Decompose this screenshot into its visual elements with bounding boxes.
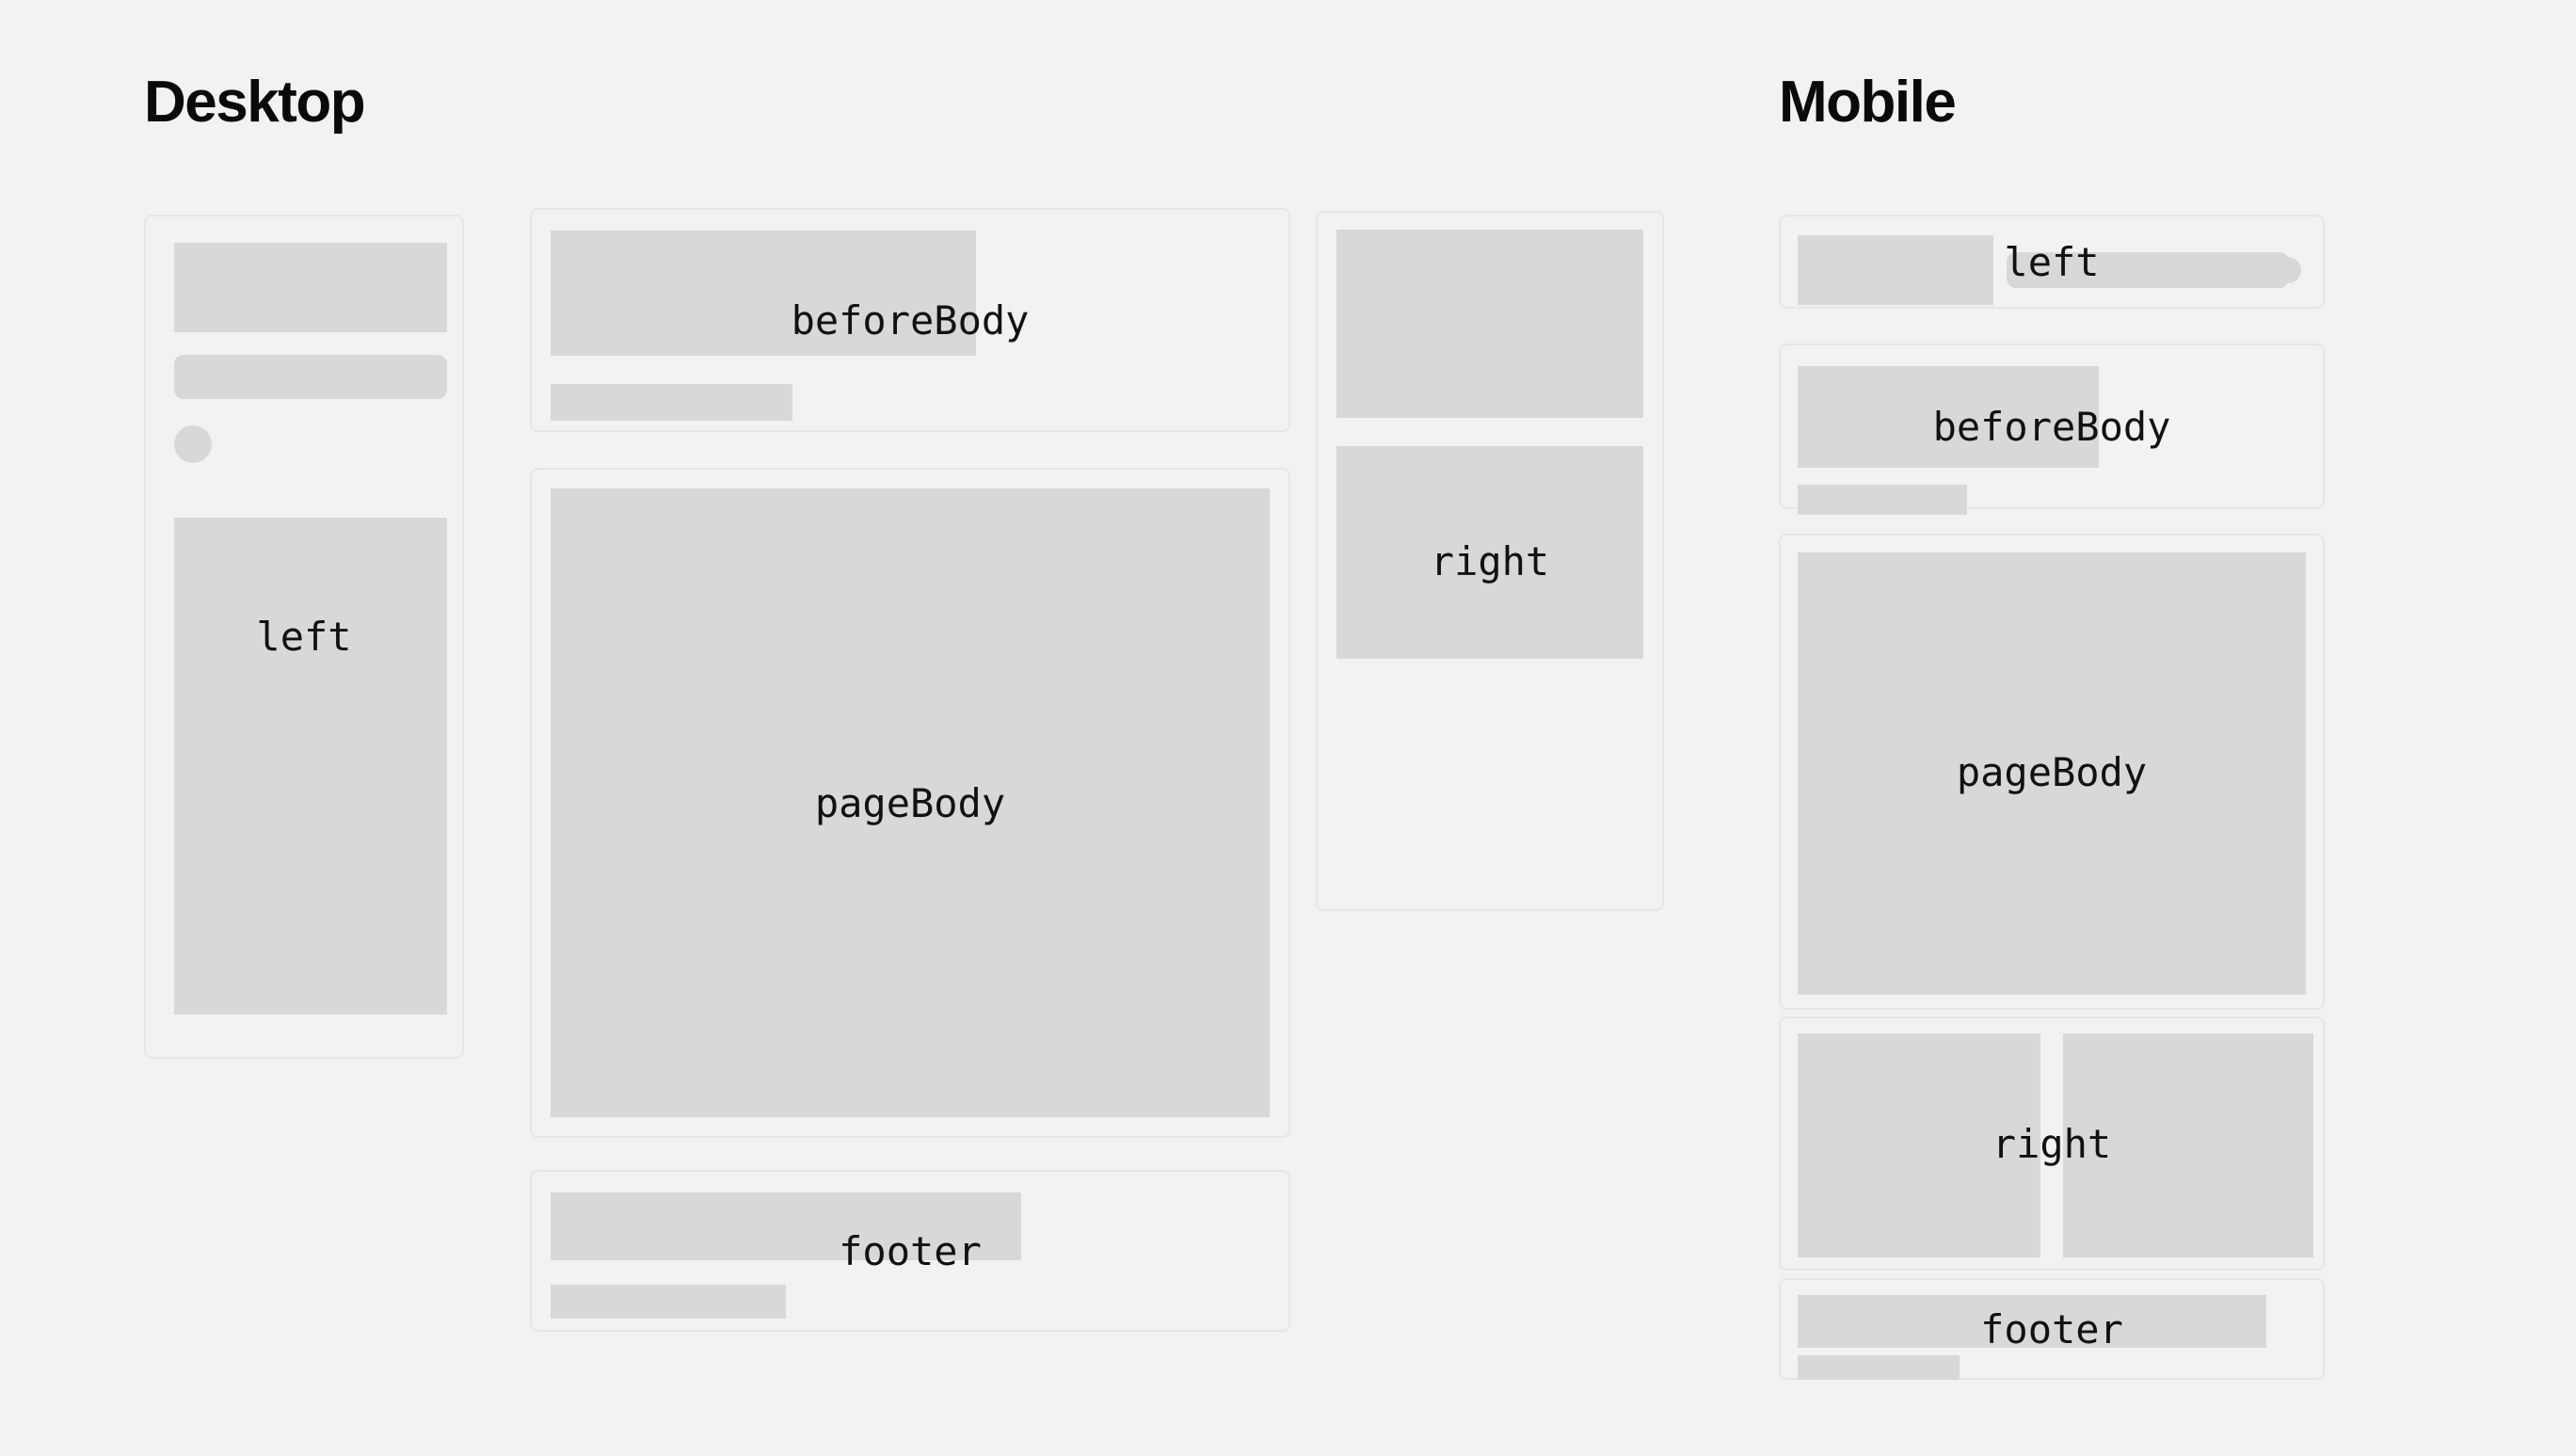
skeleton-block-body — [551, 488, 1270, 1117]
desktop-region-footer[interactable]: footer — [530, 1170, 1290, 1332]
skeleton-block-card-bottom — [1336, 446, 1643, 659]
skeleton-bar-caption — [1798, 1355, 1960, 1380]
skeleton-block-hero — [174, 243, 447, 332]
skeleton-block-list — [174, 518, 447, 1015]
skeleton-bar-caption — [1798, 485, 1967, 515]
skeleton-block-hero — [1798, 1295, 2266, 1348]
skeleton-bar-line — [2007, 252, 2289, 288]
mobile-region-footer[interactable]: footer — [1779, 1278, 2325, 1380]
skeleton-block-hero — [1798, 366, 2099, 468]
mobile-region-left[interactable]: left — [1779, 215, 2325, 309]
desktop-region-right[interactable]: right — [1316, 211, 1664, 911]
skeleton-block-body — [1798, 552, 2306, 995]
skeleton-block-hero — [551, 231, 976, 356]
skeleton-block-card-left — [1798, 1033, 2040, 1257]
skeleton-block-card-right — [2063, 1033, 2313, 1257]
desktop-section-title: Desktop — [144, 73, 364, 132]
skeleton-bar-line — [174, 355, 447, 399]
skeleton-block-card-top — [1336, 230, 1643, 418]
mobile-region-right[interactable]: right — [1779, 1016, 2325, 1271]
desktop-region-beforebody[interactable]: beforeBody — [530, 208, 1290, 432]
skeleton-avatar-circle — [2275, 257, 2301, 283]
skeleton-block-hero — [1798, 235, 1993, 305]
skeleton-block-hero — [551, 1192, 1021, 1260]
desktop-region-pagebody[interactable]: pageBody — [530, 468, 1290, 1138]
mobile-section-title: Mobile — [1779, 73, 1955, 132]
mobile-region-beforebody[interactable]: beforeBody — [1779, 344, 2325, 509]
skeleton-bar-caption — [551, 384, 792, 421]
skeleton-bar-caption — [551, 1285, 786, 1319]
desktop-region-left[interactable]: left — [144, 215, 464, 1059]
mobile-region-pagebody[interactable]: pageBody — [1779, 534, 2325, 1010]
skeleton-avatar-circle — [174, 425, 212, 463]
